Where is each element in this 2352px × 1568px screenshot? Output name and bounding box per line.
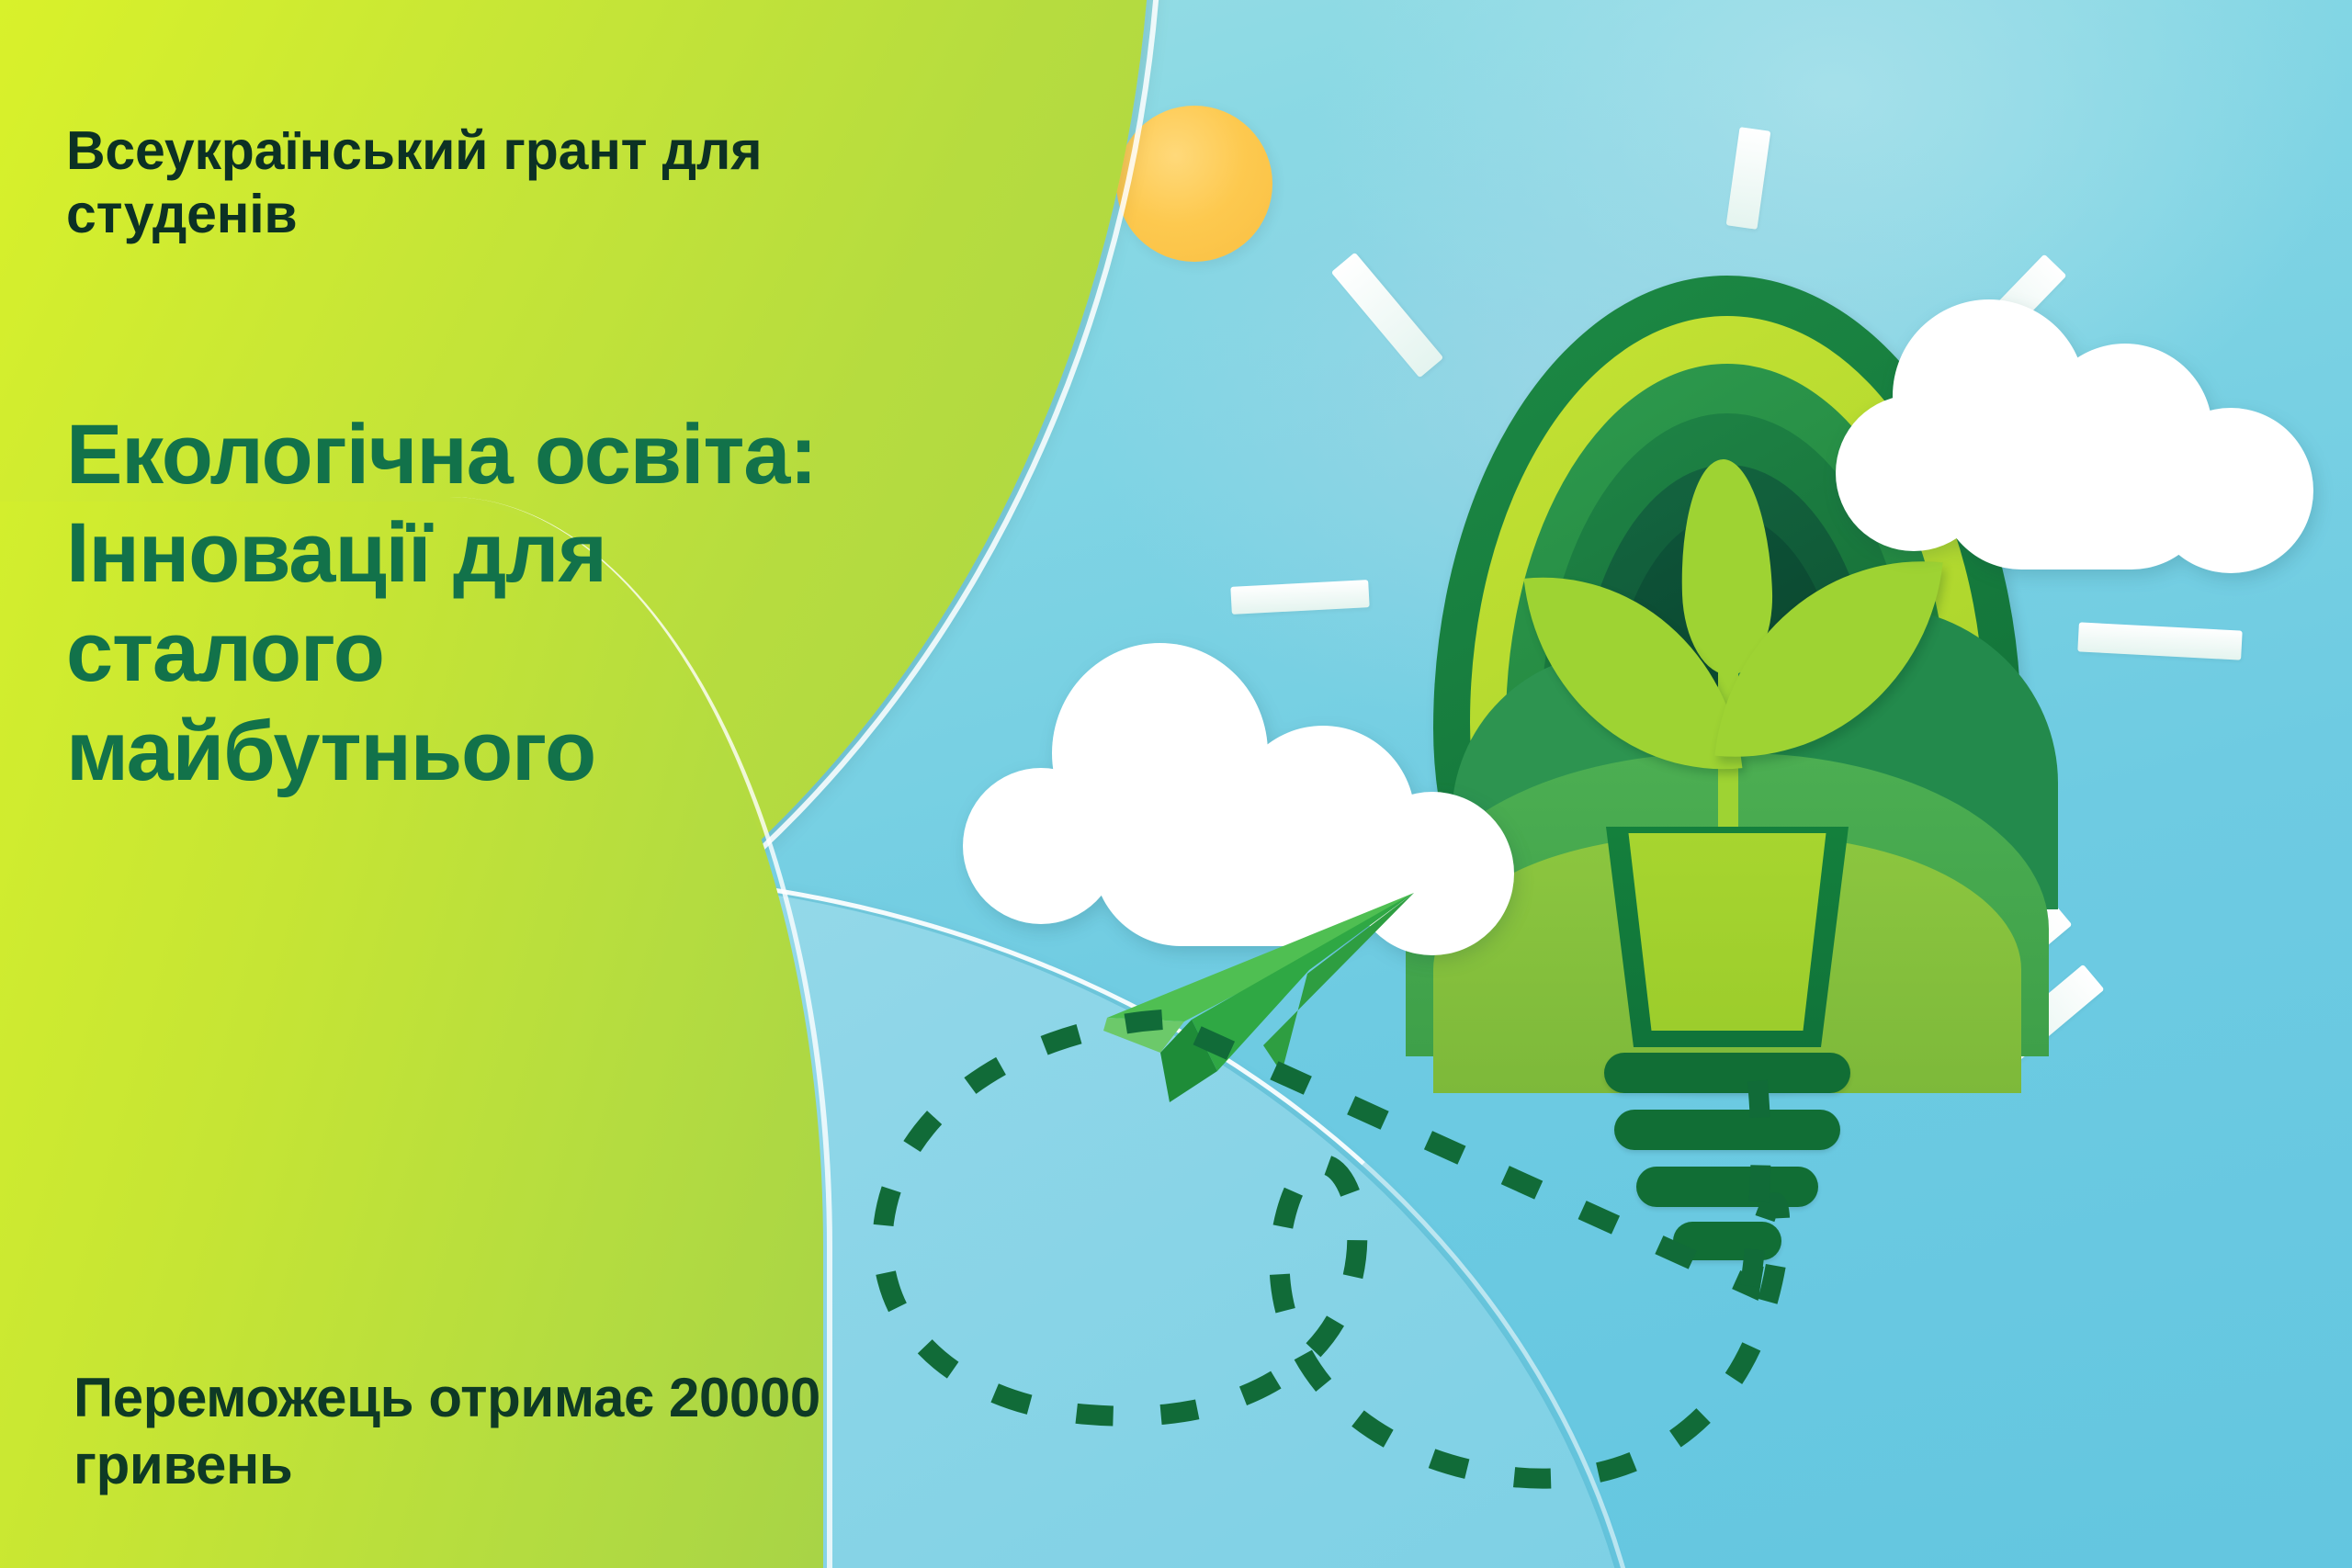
cloud-upper-right <box>1828 285 2343 588</box>
page-title: Екологічна освіта: Інновації для сталого… <box>66 406 875 802</box>
cloud-puff <box>1939 404 2214 570</box>
eyebrow-text: Всеукраїнський грант для студенів <box>66 119 792 246</box>
prize-text: Переможець отримає 20000 гривень <box>73 1364 900 1498</box>
bulb-screw-bar <box>1614 1110 1840 1150</box>
bulb-screw-bar <box>1636 1167 1818 1207</box>
bulb-screw-bar <box>1604 1053 1850 1093</box>
paper-plane-icon <box>1070 882 1419 1111</box>
bulb-screw-bar <box>1673 1222 1781 1260</box>
poster-canvas: Всеукраїнський грант для студенів Еколог… <box>0 0 2352 1568</box>
